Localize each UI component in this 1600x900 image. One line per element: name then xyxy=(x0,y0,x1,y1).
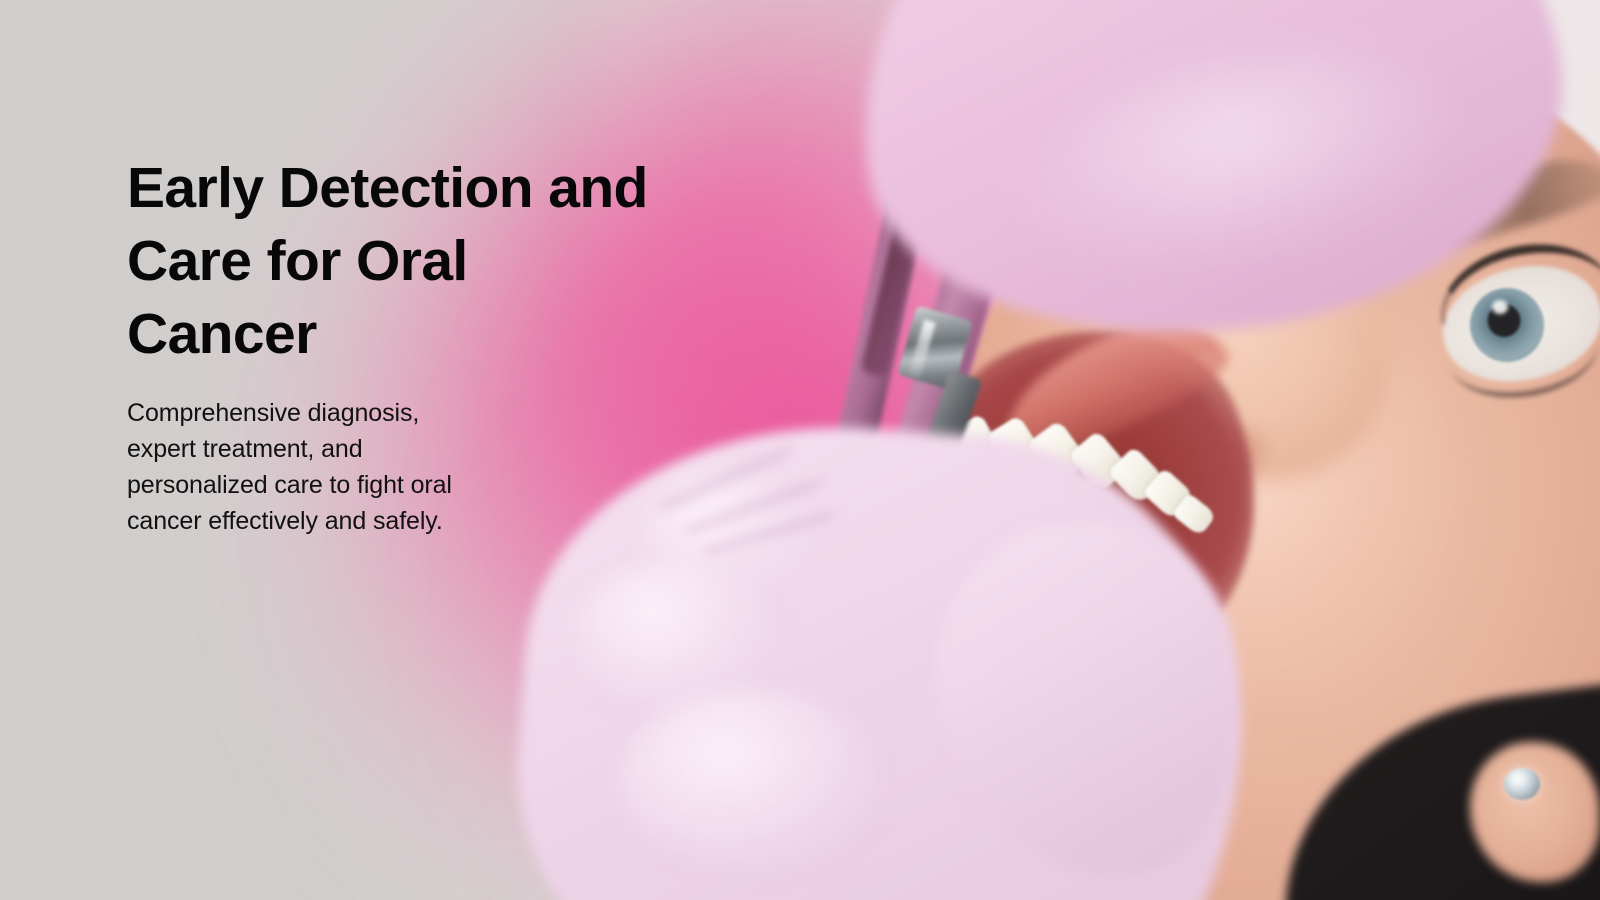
glove-knuckle xyxy=(575,560,775,710)
glove-knuckle xyxy=(620,690,880,870)
hero-subcopy: Comprehensive diagnosis, expert treatmen… xyxy=(127,395,487,539)
hero-headline: Early Detection and Care for Oral Cancer xyxy=(127,152,667,371)
hero-banner: Early Detection and Care for Oral Cancer… xyxy=(0,0,1600,900)
hero-copy-block: Early Detection and Care for Oral Cancer… xyxy=(127,152,667,539)
patient-earring xyxy=(1504,768,1540,800)
